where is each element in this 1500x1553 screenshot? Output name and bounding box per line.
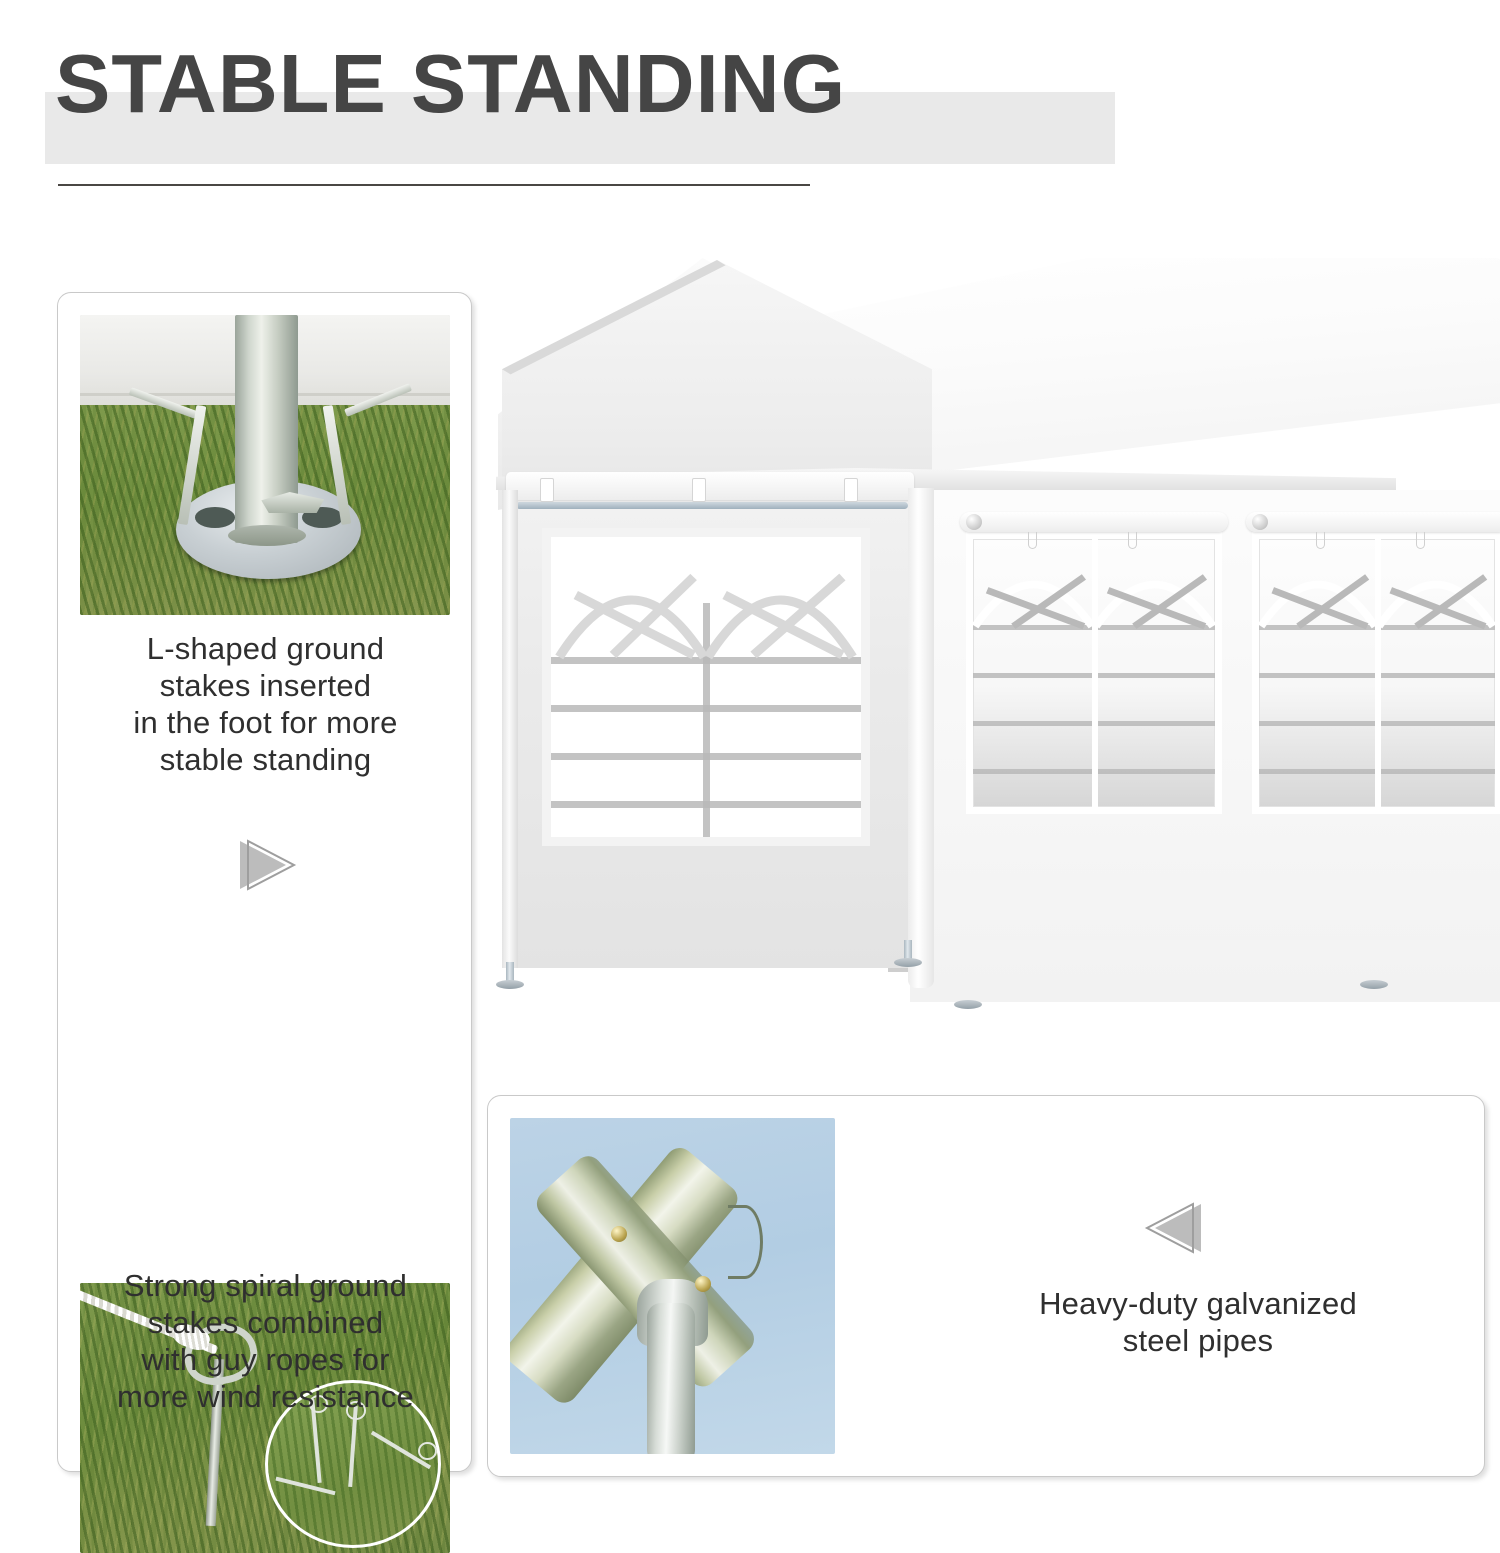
header-clip — [692, 478, 706, 502]
curtain-rod-2 — [1246, 512, 1500, 532]
pipe-clip — [728, 1205, 764, 1278]
caption-line: stakes combined — [64, 1305, 467, 1342]
bolt-left — [611, 1226, 627, 1242]
inset-stake — [275, 1476, 335, 1495]
header-clip — [844, 478, 858, 502]
header-clip — [540, 478, 554, 502]
pole-collar — [228, 525, 306, 546]
foot-plate — [496, 980, 524, 989]
ground-stake-foot-plate-photo — [80, 315, 450, 615]
eave-steel-rail — [516, 502, 908, 509]
caption-line: Strong spiral ground — [64, 1268, 467, 1305]
caption-line: stable standing — [68, 742, 463, 779]
inset-stake-eye — [418, 1442, 437, 1461]
foot-plate — [1360, 980, 1388, 989]
curtain-rod-1 — [960, 512, 1228, 532]
caption-line: steel pipes — [928, 1323, 1468, 1360]
caption-line: L-shaped ground — [68, 631, 463, 668]
front-post-left — [502, 490, 518, 968]
pipe-vertical — [647, 1303, 696, 1454]
title-divider-rule — [58, 184, 810, 186]
front-gable-window — [542, 528, 870, 846]
side-window-2 — [1252, 532, 1500, 814]
window-arch-pattern — [1259, 539, 1495, 630]
galvanized-pipe-joint-photo — [510, 1118, 835, 1454]
play-triangle-left-icon-svg — [1143, 1201, 1205, 1255]
rod-end-cap-2 — [1252, 514, 1268, 530]
rod-end-cap-1 — [966, 514, 982, 530]
curtain-hook — [1316, 532, 1325, 549]
play-triangle-left-icon — [1143, 1201, 1205, 1260]
white-carport-party-tent — [480, 240, 1500, 1070]
caption-l-shaped-stakes: L-shaped ground stakes inserted in the f… — [68, 631, 463, 779]
caption-line: Heavy-duty galvanized — [928, 1286, 1468, 1323]
caption-line: more wind resistance — [64, 1379, 467, 1416]
curtain-hook — [1028, 532, 1037, 549]
play-triangle-right-icon — [236, 838, 298, 897]
corner-post — [908, 488, 934, 988]
caption-galvanized-pipes: Heavy-duty galvanized steel pipes — [928, 1286, 1468, 1360]
caption-line: with guy ropes for — [64, 1342, 467, 1379]
side-window-1 — [966, 532, 1222, 814]
curtain-hook — [1416, 532, 1425, 549]
plate-hole-left — [195, 507, 236, 528]
caption-spiral-stakes: Strong spiral ground stakes combined wit… — [64, 1268, 467, 1416]
features-card-left: L-shaped ground stakes inserted in the f… — [57, 292, 472, 1472]
foot-plate — [894, 958, 922, 967]
header: STABLE STANDING — [0, 0, 1500, 215]
curtain-hook — [1128, 532, 1137, 549]
caption-line: stakes inserted — [68, 668, 463, 705]
window-arch-pattern — [551, 537, 861, 663]
play-triangle-right-icon-svg — [236, 838, 298, 892]
features-card-pipes: Heavy-duty galvanized steel pipes — [487, 1095, 1485, 1477]
window-arch-pattern — [973, 539, 1215, 630]
caption-line: in the foot for more — [68, 705, 463, 742]
page-title: STABLE STANDING — [55, 42, 1255, 125]
foot-plate — [954, 1000, 982, 1009]
